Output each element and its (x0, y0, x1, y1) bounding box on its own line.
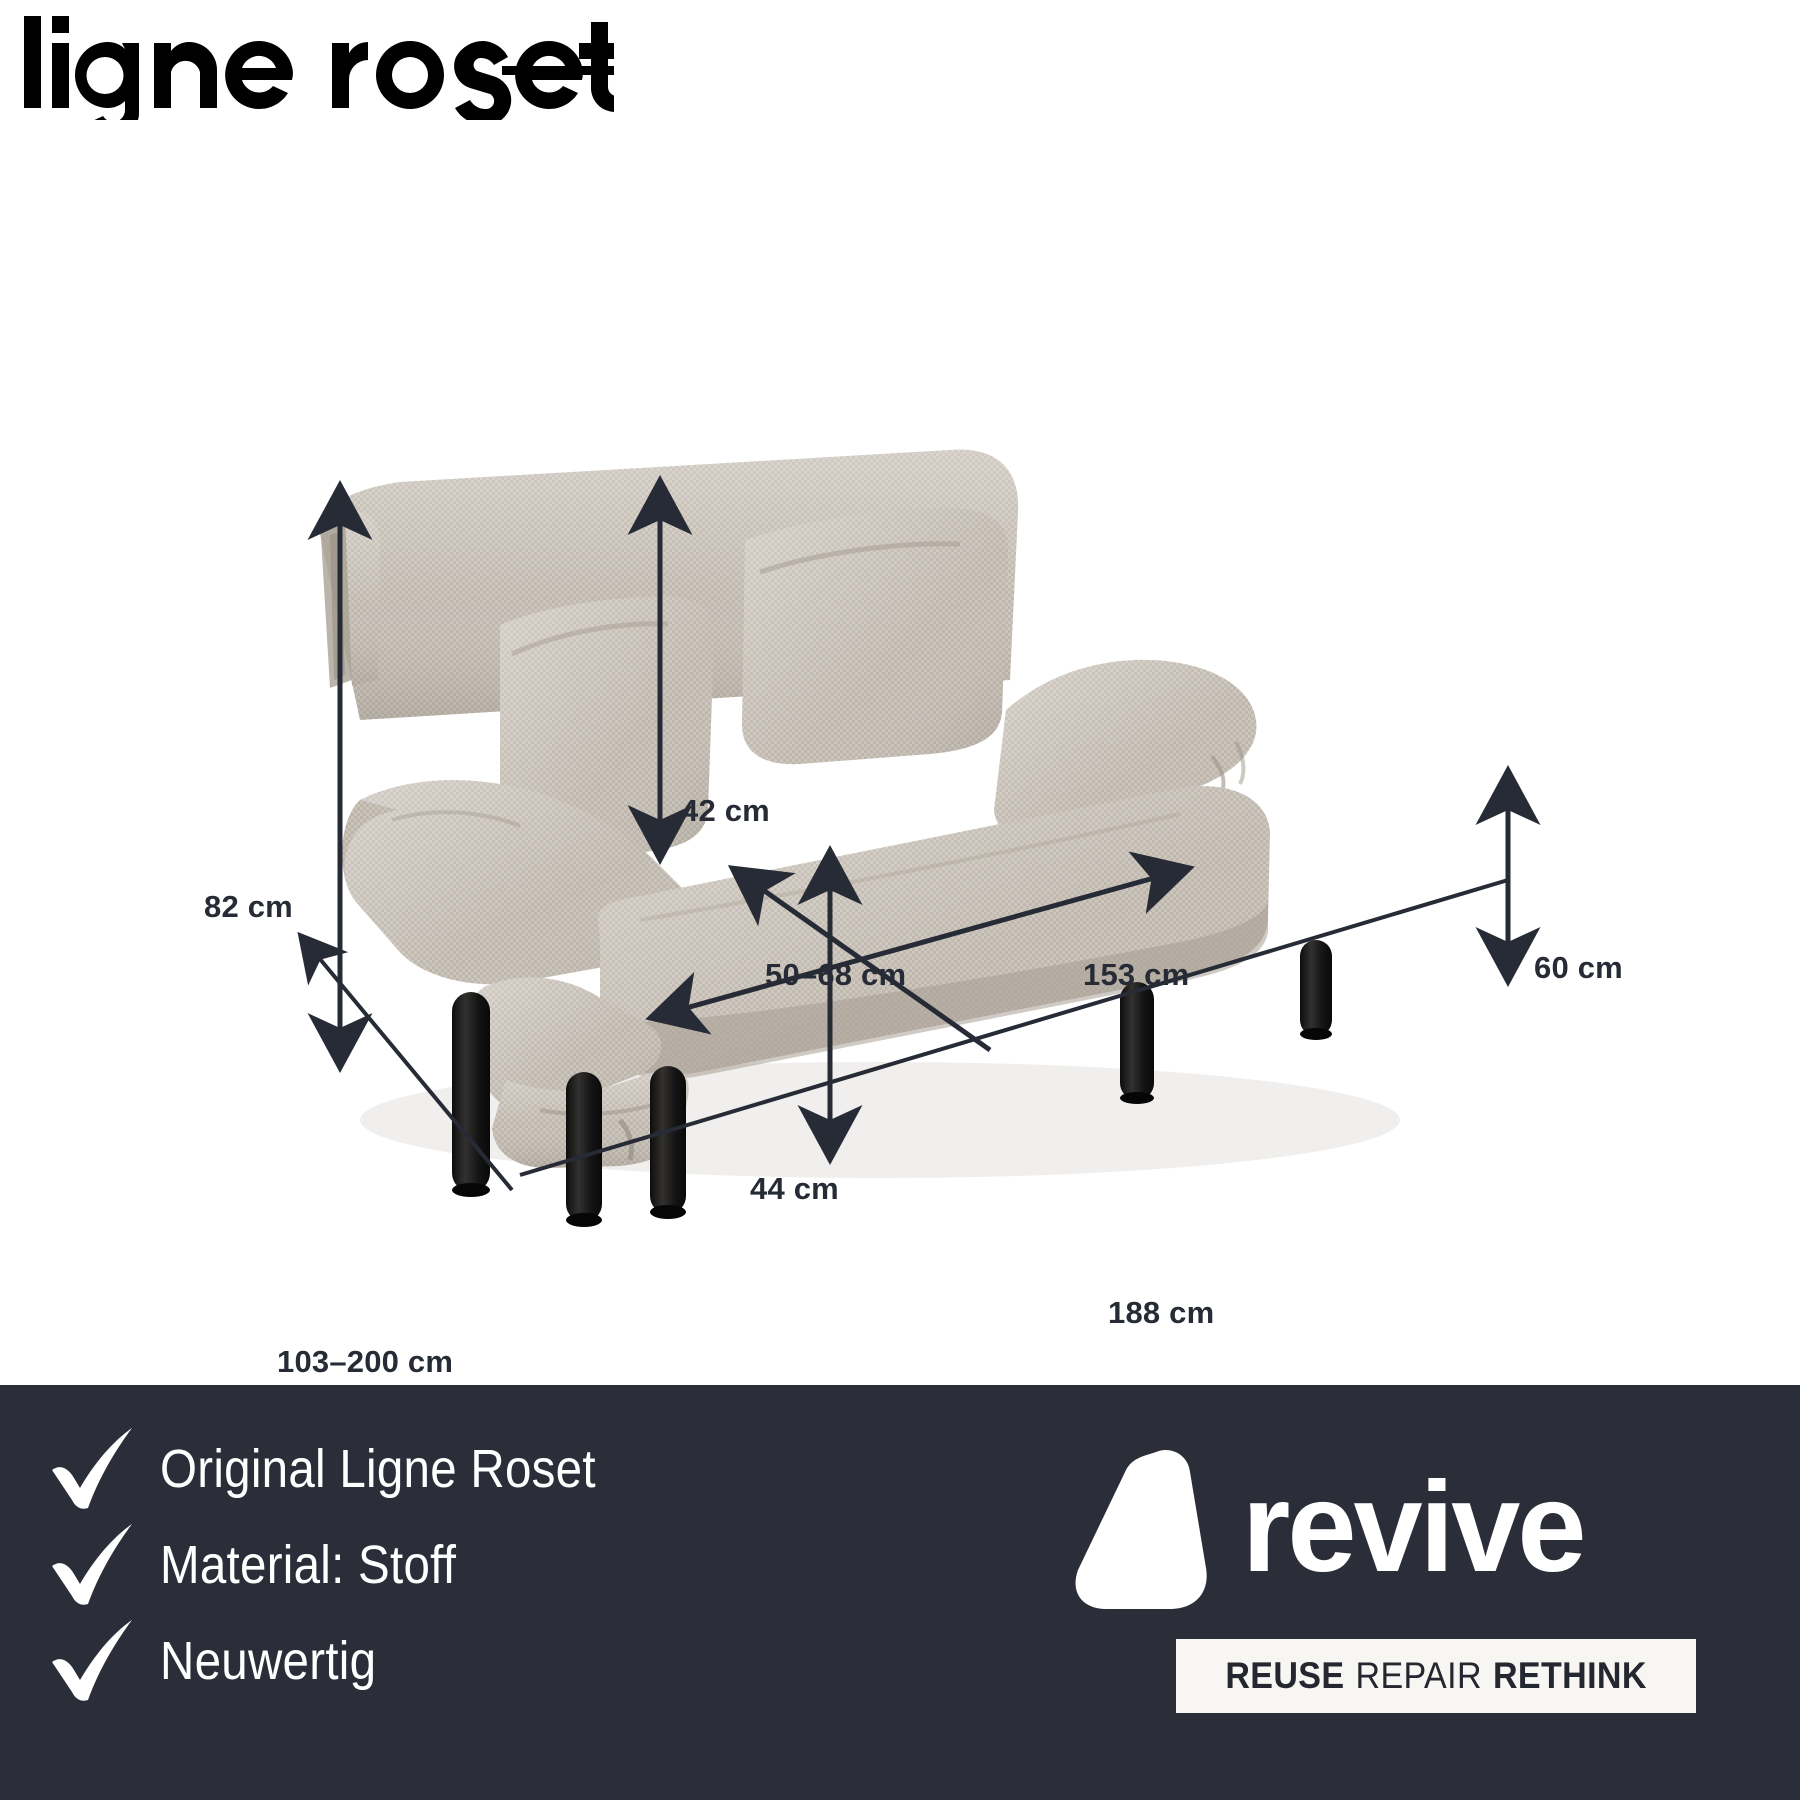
revive-tagline: REUSEREPAIRRETHINK (1176, 1639, 1696, 1713)
product-image-canvas: 82 cm 42 cm 50–68 cm 153 cm 60 cm 44 cm … (0, 0, 1800, 1800)
revive-wordmark-row: revive (1030, 1433, 1730, 1623)
revive-droplet-icon (1070, 1446, 1220, 1611)
feature-list: Original Ligne Roset Material: Stoff Neu… (40, 1421, 940, 1709)
revive-logo: revive REUSEREPAIRRETHINK (1030, 1433, 1730, 1753)
dimension-label-seat-depth: 50–68 cm (765, 959, 906, 990)
product-photo-with-dimensions: 82 cm 42 cm 50–68 cm 153 cm 60 cm 44 cm … (0, 120, 1800, 1385)
dimension-label-total-width: 188 cm (1108, 1297, 1214, 1328)
feature-label: Original Ligne Roset (160, 1442, 596, 1496)
dimension-label-seat-width: 153 cm (1083, 959, 1189, 990)
check-icon (46, 1426, 138, 1512)
feature-item-condition: Neuwertig (40, 1613, 940, 1709)
feature-label: Material: Stoff (160, 1538, 456, 1592)
dimension-label-total-depth: 103–200 cm (277, 1346, 453, 1377)
ligne-roset-logo (14, 10, 614, 120)
check-icon (46, 1618, 138, 1704)
footer-banner: Original Ligne Roset Material: Stoff Neu… (0, 1385, 1800, 1800)
tagline-word-rethink: RETHINK (1493, 1655, 1647, 1696)
feature-item-original: Original Ligne Roset (40, 1421, 940, 1517)
tagline-word-repair: REPAIR (1355, 1655, 1481, 1696)
tagline-word-reuse: REUSE (1225, 1655, 1344, 1696)
check-icon (46, 1522, 138, 1608)
dimension-label-backrest: 42 cm (681, 795, 770, 826)
feature-item-material: Material: Stoff (40, 1517, 940, 1613)
dimension-label-seat-height: 44 cm (750, 1173, 839, 1204)
dimension-label-arm-height: 60 cm (1534, 952, 1623, 983)
dimension-label-height: 82 cm (204, 891, 293, 922)
sofa-illustration (0, 120, 1800, 1385)
feature-label: Neuwertig (160, 1634, 376, 1688)
revive-tagline-text: REUSEREPAIRRETHINK (1225, 1655, 1647, 1697)
revive-wordmark-text: revive (1242, 1464, 1584, 1592)
